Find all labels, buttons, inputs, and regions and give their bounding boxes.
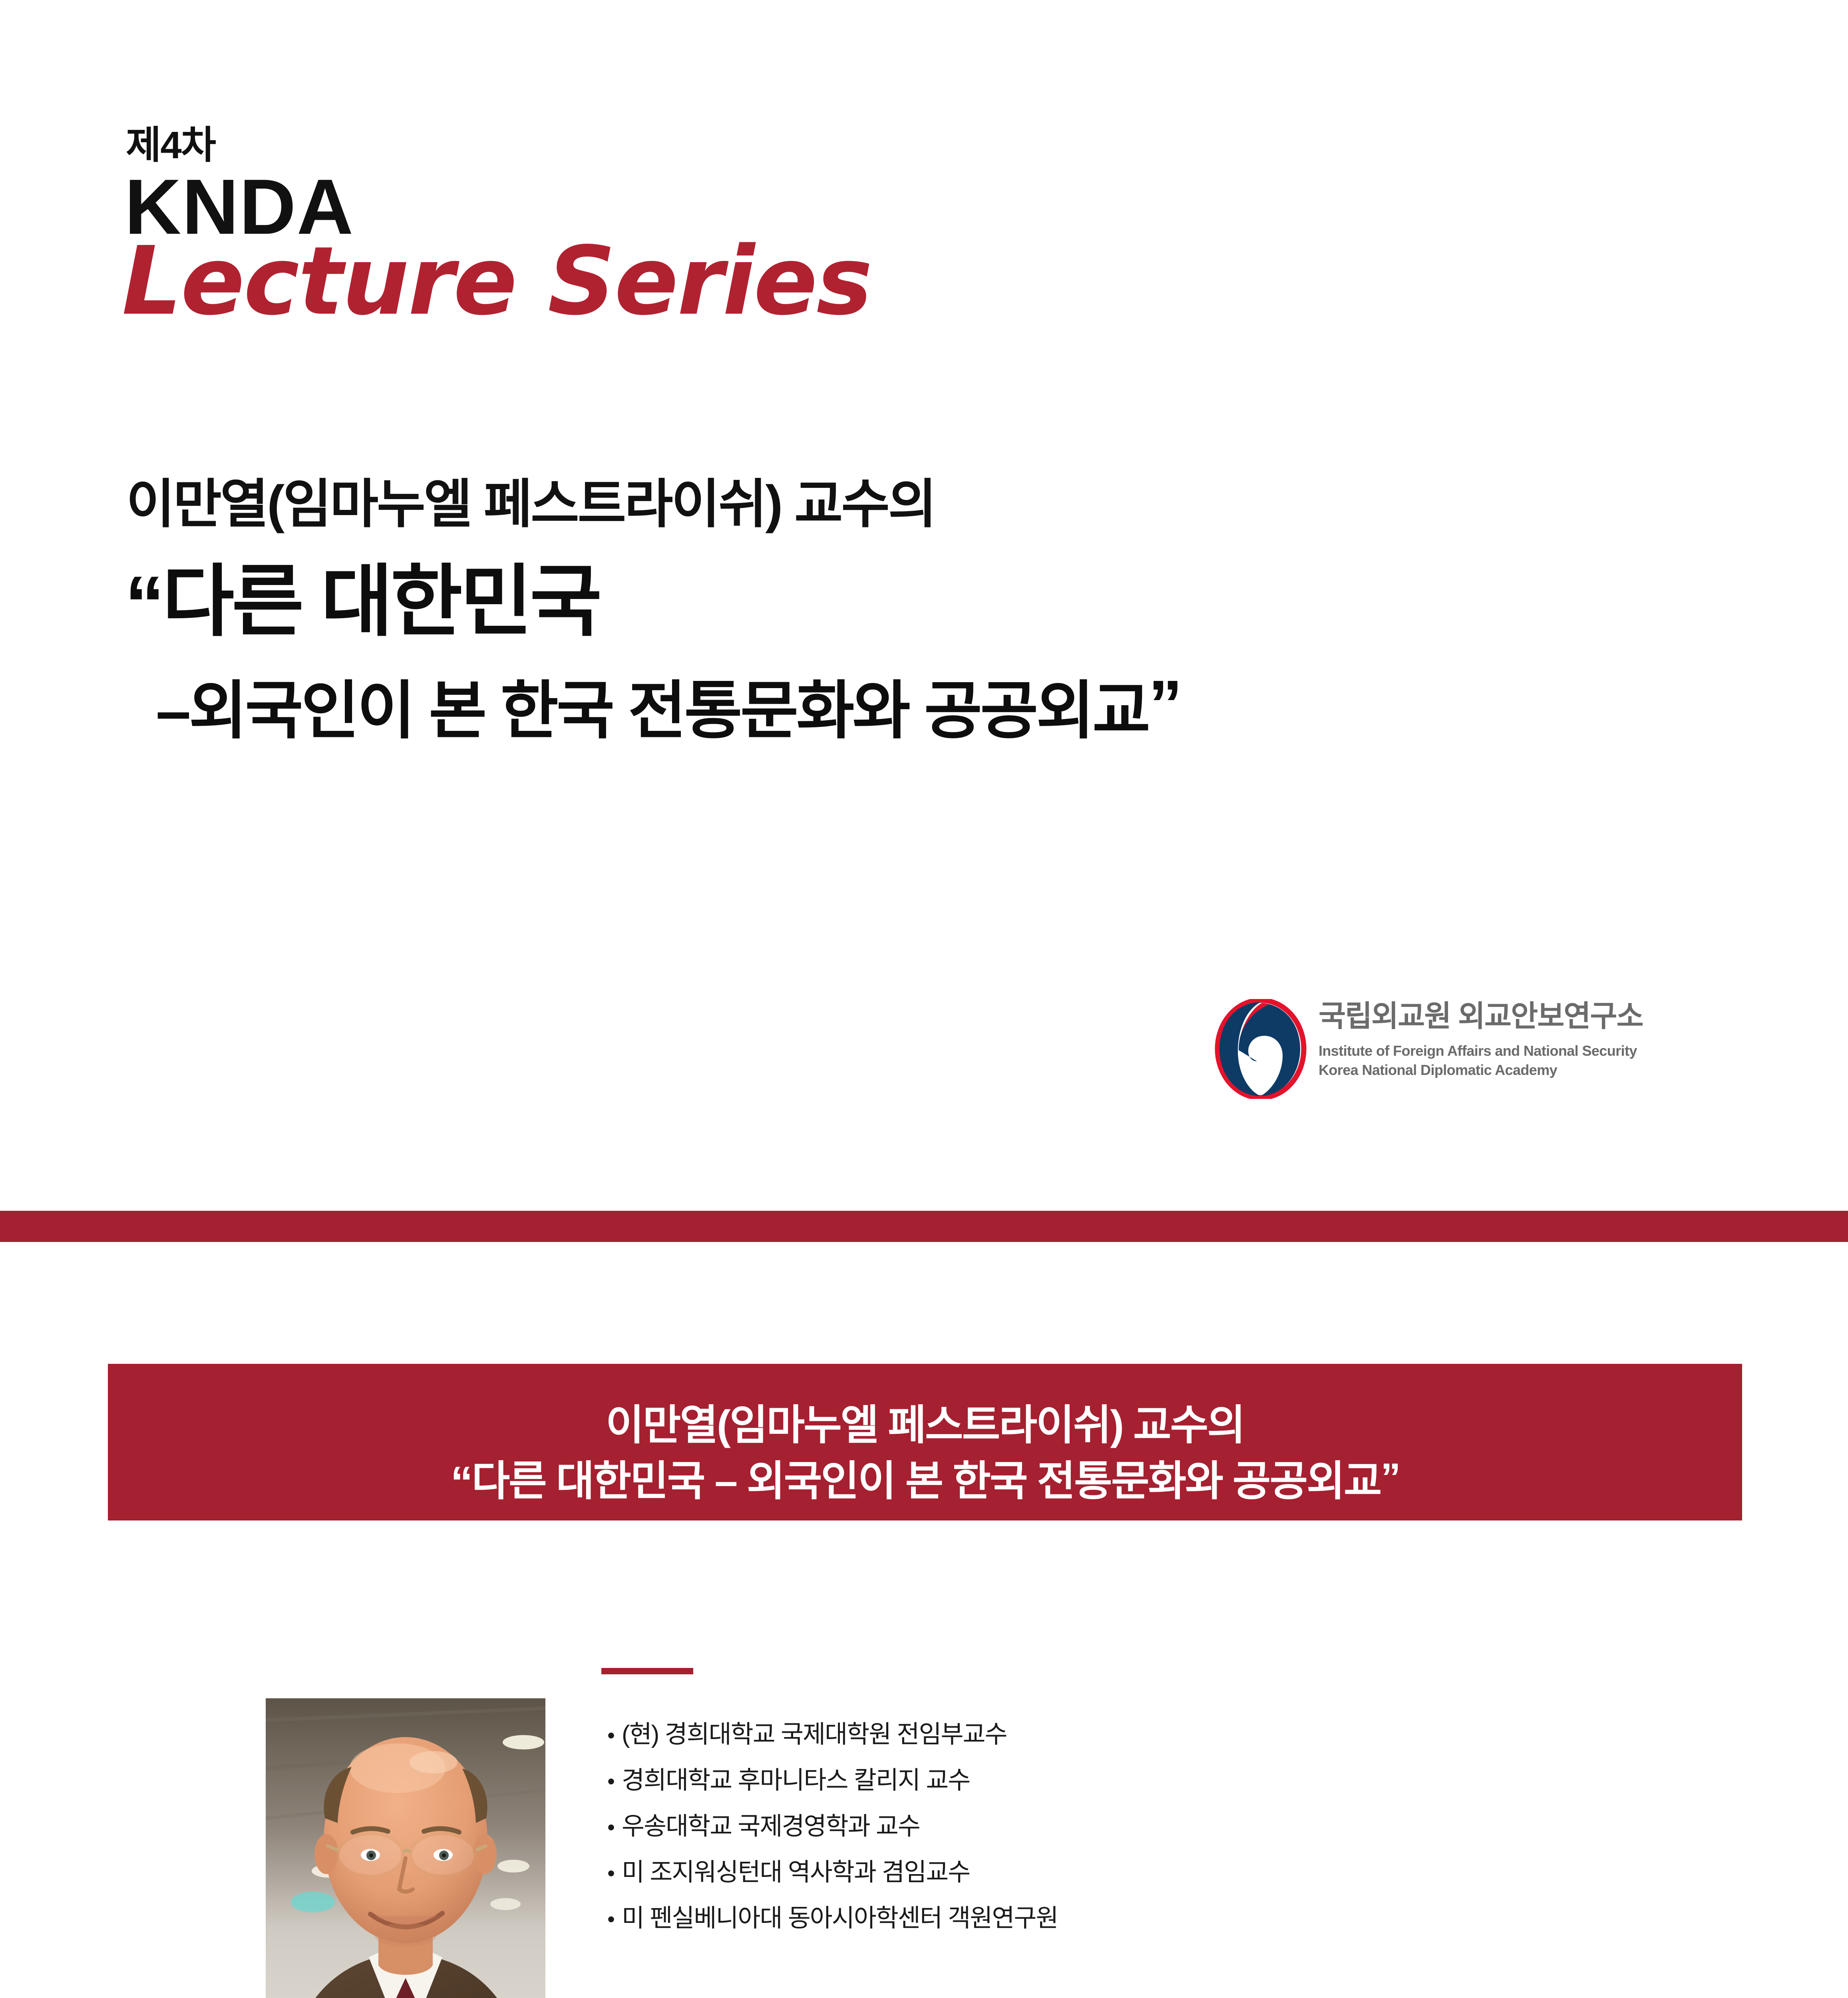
- bio-item: •경희대학교 후마니타스 칼리지 교수: [607, 1768, 1526, 1793]
- logo-name-english-line2: Korea National Diplomatic Academy: [1319, 1061, 1643, 1080]
- banner-title-text: 다른 대한민국 – 외국인이 본 한국 전통문화와 공공외교: [471, 1458, 1381, 1504]
- speaker-name-line: 이만열(임마누엘 페스트라이쉬) 교수의: [126, 462, 935, 538]
- speaker-bio-list: •(현) 경희대학교 국제대학원 전임부교수 •경희대학교 후마니타스 칼리지 …: [607, 1722, 1526, 1952]
- series-edition-kicker: 제4차: [126, 114, 215, 169]
- bio-item: •미 펜실베니아대 동아시아학센터 객원연구원: [607, 1906, 1526, 1931]
- close-quote-icon: ”: [1148, 667, 1180, 742]
- banner-open-quote-icon: “: [450, 1457, 471, 1507]
- bullet-icon: •: [607, 1908, 622, 1930]
- banner-speaker-line: 이만열(임마누엘 페스트라이쉬) 교수의: [108, 1391, 1742, 1451]
- speaker-photo: [266, 1698, 545, 1998]
- bio-item: •우송대학교 국제경영학과 교수: [607, 1814, 1526, 1839]
- lecture-title-sub: –외국인이 본 한국 전통문화와 공공외교”: [156, 659, 1180, 751]
- bullet-icon: •: [607, 1817, 622, 1838]
- poster-header: 제4차 KNDA Lecture Series 이만열(임마누엘 페스트라이쉬)…: [0, 0, 1848, 1211]
- bio-item-text: 우송대학교 국제경영학과 교수: [622, 1813, 920, 1840]
- bio-item-text: 경희대학교 후마니타스 칼리지 교수: [622, 1767, 970, 1794]
- section-divider-bar: [0, 1211, 1848, 1242]
- bullet-icon: •: [607, 1725, 622, 1746]
- lecture-title-sub-text: –외국인이 본 한국 전통문화와 공공외교: [156, 676, 1148, 746]
- bullet-icon: •: [607, 1863, 622, 1884]
- lecture-title-main-text: 다른 대한민국: [162, 558, 599, 645]
- bio-item: •미 조지워싱턴대 역사학과 겸임교수: [607, 1860, 1526, 1885]
- bio-item-text: (현) 경희대학교 국제대학원 전임부교수: [622, 1721, 1007, 1748]
- banner-close-quote-icon: ”: [1381, 1455, 1400, 1500]
- accent-line-top: [601, 1668, 693, 1674]
- logo-name-korean: 국립외교원 외교안보연구소: [1319, 1001, 1643, 1031]
- bio-item: •(현) 경희대학교 국제대학원 전임부교수: [607, 1722, 1526, 1747]
- lecture-series-title: Lecture Series: [122, 232, 871, 331]
- taegeuk-logo-icon: [1215, 999, 1307, 1099]
- bio-item-text: 미 펜실베니아대 동아시아학센터 객원연구원: [622, 1904, 1058, 1932]
- bullet-icon: •: [607, 1771, 622, 1792]
- logo-text-block: 국립외교원 외교안보연구소 Institute of Foreign Affai…: [1319, 1001, 1643, 1079]
- open-quote-icon: “: [125, 560, 162, 649]
- banner-title-line: “다른 대한민국 – 외국인이 본 한국 전통문화와 공공외교”: [108, 1447, 1742, 1508]
- bio-item-text: 미 조지워싱턴대 역사학과 겸임교수: [622, 1859, 970, 1886]
- logo-name-english-line1: Institute of Foreign Affairs and Nationa…: [1319, 1041, 1643, 1061]
- knda-logo: 국립외교원 외교안보연구소 Institute of Foreign Affai…: [1215, 995, 1742, 1115]
- lecture-title-main: “다른 대한민국: [125, 555, 599, 652]
- lecture-title-banner: 이만열(임마누엘 페스트라이쉬) 교수의 “다른 대한민국 – 외국인이 본 한…: [108, 1364, 1742, 1520]
